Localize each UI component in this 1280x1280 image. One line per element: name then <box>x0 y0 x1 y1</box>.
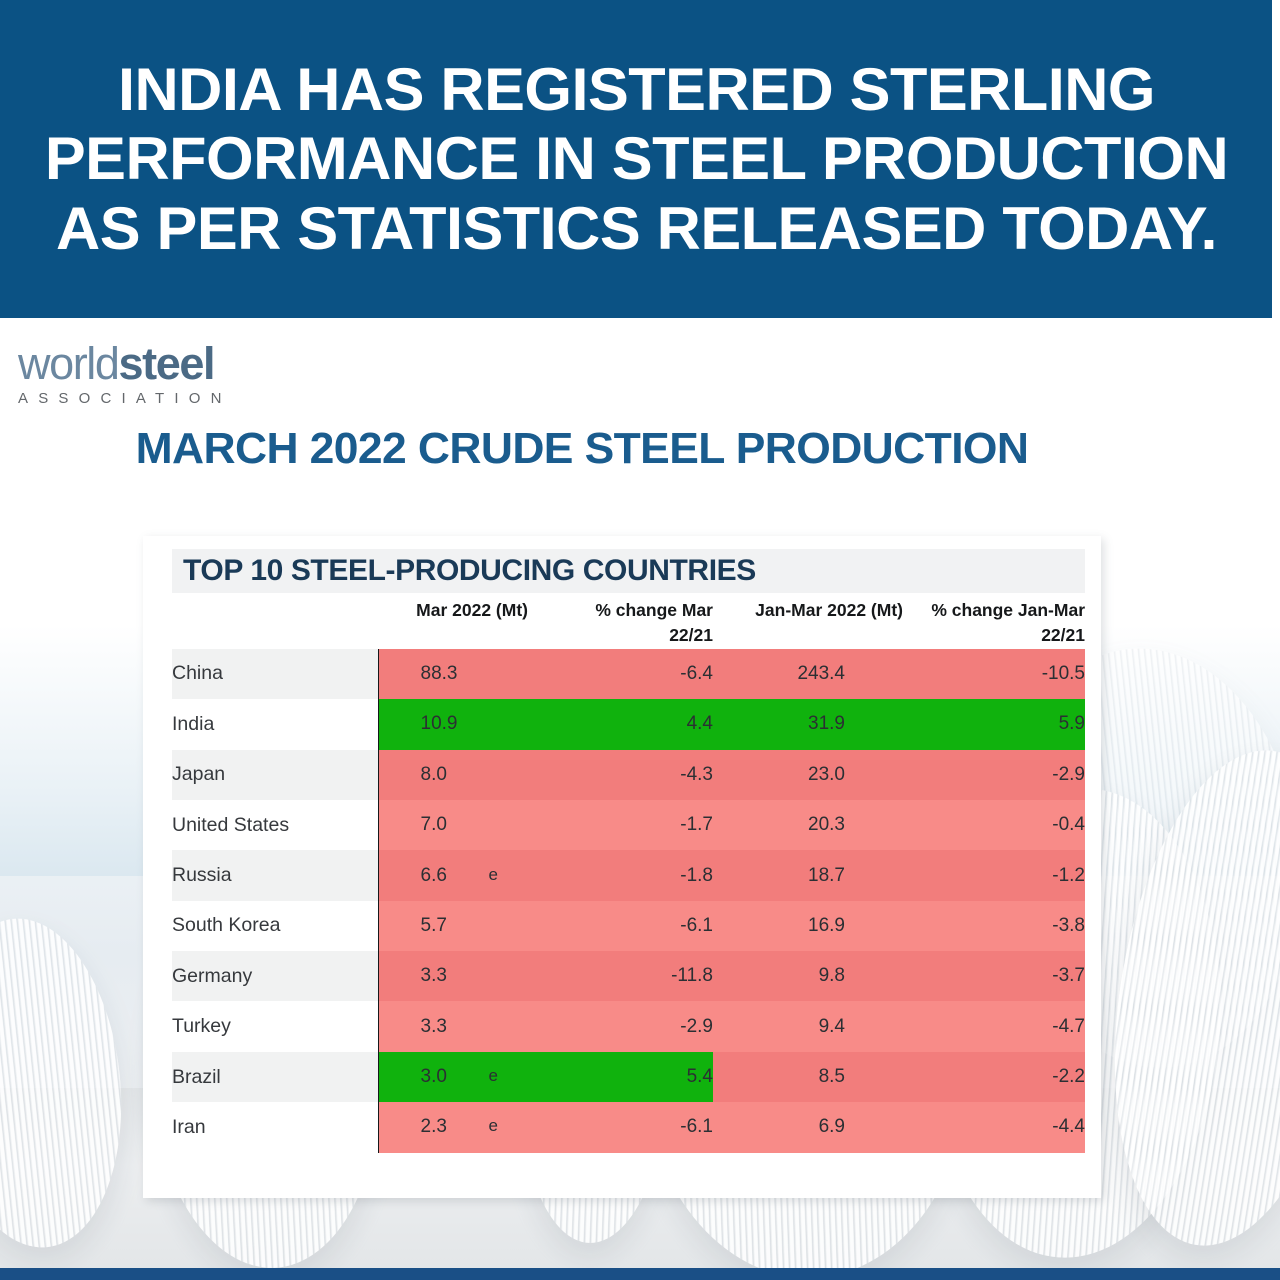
logo-wordmark: worldsteel <box>18 340 232 388</box>
table-cell-country: Brazil <box>172 1052 378 1102</box>
table-cell-mar-2022-mt: 3.3 <box>378 1001 528 1051</box>
table-cell-mar-2022-mt: 2.3e <box>378 1102 528 1152</box>
table-cell-jan-mar-2022-mt: 8.5 <box>713 1052 903 1102</box>
steel-production-table: Mar 2022 (Mt) % change Mar 22/21 Jan-Mar… <box>172 598 1086 1153</box>
table-row: India10.94.431.95.9 <box>172 699 1085 749</box>
section-heading: MARCH 2022 CRUDE STEEL PRODUCTION <box>136 424 1029 474</box>
table-cell-pct-change-mar: -11.8 <box>528 951 713 1001</box>
table-cell-pct-change-mar: -1.8 <box>528 850 713 900</box>
column-header-jan-mar-2022: Jan-Mar 2022 (Mt) <box>713 598 903 649</box>
cell-value: 10.9 <box>421 713 458 734</box>
table-cell-jan-mar-2022-mt: 20.3 <box>713 800 903 850</box>
table-cell-jan-mar-2022-mt: 243.4 <box>713 649 903 699</box>
table-head: Mar 2022 (Mt) % change Mar 22/21 Jan-Mar… <box>172 598 1085 649</box>
cell-value: 8.0 <box>421 764 447 785</box>
headline-text: INDIA HAS REGISTERED STERLING PERFORMANC… <box>16 55 1255 264</box>
column-header-line1: Jan-Mar 2022 (Mt) <box>755 600 903 620</box>
column-header-line1: Mar 2022 (Mt) <box>416 600 528 620</box>
cell-value: 3.3 <box>421 1016 447 1037</box>
estimate-flag: e <box>489 865 498 885</box>
table-cell-pct-change-jan-mar: -4.4 <box>903 1102 1085 1152</box>
column-header-line1: % change Mar <box>595 600 713 620</box>
table-cell-mar-2022-mt: 5.7 <box>378 901 528 951</box>
cell-value: 2.3 <box>421 1116 447 1137</box>
table-cell-pct-change-jan-mar: -3.7 <box>903 951 1085 1001</box>
column-header-pct-change-mar: % change Mar 22/21 <box>528 598 713 649</box>
estimate-flag: e <box>489 1066 498 1086</box>
column-header-mar-2022: Mar 2022 (Mt) <box>378 598 528 649</box>
table-body: China88.3-6.4243.4-10.5India10.94.431.95… <box>172 649 1085 1153</box>
table-cell-mar-2022-mt: 7.0 <box>378 800 528 850</box>
table-cell-pct-change-jan-mar: -4.7 <box>903 1001 1085 1051</box>
table-cell-jan-mar-2022-mt: 6.9 <box>713 1102 903 1152</box>
table-cell-pct-change-jan-mar: -2.2 <box>903 1052 1085 1102</box>
table-row: Russia6.6e-1.818.7-1.2 <box>172 850 1085 900</box>
table-cell-pct-change-mar: -1.7 <box>528 800 713 850</box>
table-cell-country: South Korea <box>172 901 378 951</box>
table-cell-country: Germany <box>172 951 378 1001</box>
table-row: Japan8.0-4.323.0-2.9 <box>172 750 1085 800</box>
table-cell-pct-change-mar: -6.4 <box>528 649 713 699</box>
column-header-line1: % change Jan-Mar <box>931 600 1085 620</box>
table-cell-jan-mar-2022-mt: 18.7 <box>713 850 903 900</box>
table-row: South Korea5.7-6.116.9-3.8 <box>172 901 1085 951</box>
table-cell-pct-change-mar: 4.4 <box>528 699 713 749</box>
table-cell-country: China <box>172 649 378 699</box>
table-cell-jan-mar-2022-mt: 9.8 <box>713 951 903 1001</box>
cell-value: 7.0 <box>421 814 447 835</box>
table-cell-pct-change-jan-mar: 5.9 <box>903 699 1085 749</box>
table-cell-mar-2022-mt: 10.9 <box>378 699 528 749</box>
logo-word-world: world <box>18 338 119 389</box>
table-row: United States7.0-1.720.3-0.4 <box>172 800 1085 850</box>
cell-value: 3.0 <box>421 1066 447 1087</box>
cell-value: 5.7 <box>421 915 447 936</box>
table-cell-country: Japan <box>172 750 378 800</box>
table-cell-pct-change-jan-mar: -10.5 <box>903 649 1085 699</box>
column-header-line2: 22/21 <box>669 625 713 645</box>
table-cell-country: Iran <box>172 1102 378 1152</box>
column-header-line2: 22/21 <box>1041 625 1085 645</box>
cell-value: 6.6 <box>421 865 447 886</box>
table-cell-country: United States <box>172 800 378 850</box>
table-cell-jan-mar-2022-mt: 23.0 <box>713 750 903 800</box>
table-cell-pct-change-mar: -4.3 <box>528 750 713 800</box>
headline-banner: INDIA HAS REGISTERED STERLING PERFORMANC… <box>0 0 1272 318</box>
table-cell-pct-change-mar: -6.1 <box>528 901 713 951</box>
table-cell-country: Russia <box>172 850 378 900</box>
table-cell-mar-2022-mt: 3.0e <box>378 1052 528 1102</box>
table-row: Turkey3.3-2.99.4-4.7 <box>172 1001 1085 1051</box>
table-cell-country: India <box>172 699 378 749</box>
footer-strip <box>0 1268 1280 1280</box>
table-title: TOP 10 STEEL-PRODUCING COUNTRIES <box>183 554 756 588</box>
table-cell-pct-change-jan-mar: -0.4 <box>903 800 1085 850</box>
worldsteel-logo: worldsteel ASSOCIATION <box>18 340 232 407</box>
table-cell-jan-mar-2022-mt: 31.9 <box>713 699 903 749</box>
table-cell-mar-2022-mt: 3.3 <box>378 951 528 1001</box>
table-cell-mar-2022-mt: 8.0 <box>378 750 528 800</box>
table-cell-mar-2022-mt: 88.3 <box>378 649 528 699</box>
table-cell-mar-2022-mt: 6.6e <box>378 850 528 900</box>
table-card: TOP 10 STEEL-PRODUCING COUNTRIES Mar 202… <box>143 536 1101 1198</box>
table-cell-pct-change-mar: -6.1 <box>528 1102 713 1152</box>
table-cell-pct-change-jan-mar: -3.8 <box>903 901 1085 951</box>
table-cell-pct-change-mar: -2.9 <box>528 1001 713 1051</box>
table-cell-pct-change-mar: 5.4 <box>528 1052 713 1102</box>
table-cell-pct-change-jan-mar: -1.2 <box>903 850 1085 900</box>
logo-subtitle: ASSOCIATION <box>18 390 232 407</box>
logo-word-steel: steel <box>119 338 215 389</box>
table-row: Germany3.3-11.89.8-3.7 <box>172 951 1085 1001</box>
cell-value: 88.3 <box>421 663 458 684</box>
table-header-row: Mar 2022 (Mt) % change Mar 22/21 Jan-Mar… <box>172 598 1085 649</box>
estimate-flag: e <box>489 1116 498 1136</box>
table-cell-jan-mar-2022-mt: 9.4 <box>713 1001 903 1051</box>
table-cell-jan-mar-2022-mt: 16.9 <box>713 901 903 951</box>
table-row: China88.3-6.4243.4-10.5 <box>172 649 1085 699</box>
table-cell-country: Turkey <box>172 1001 378 1051</box>
column-header-pct-change-jan-mar: % change Jan-Mar 22/21 <box>903 598 1085 649</box>
table-cell-pct-change-jan-mar: -2.9 <box>903 750 1085 800</box>
table-row: Brazil3.0e5.48.5-2.2 <box>172 1052 1085 1102</box>
cell-value: 3.3 <box>421 965 447 986</box>
table-row: Iran2.3e-6.16.9-4.4 <box>172 1102 1085 1152</box>
column-header-country <box>172 598 378 649</box>
